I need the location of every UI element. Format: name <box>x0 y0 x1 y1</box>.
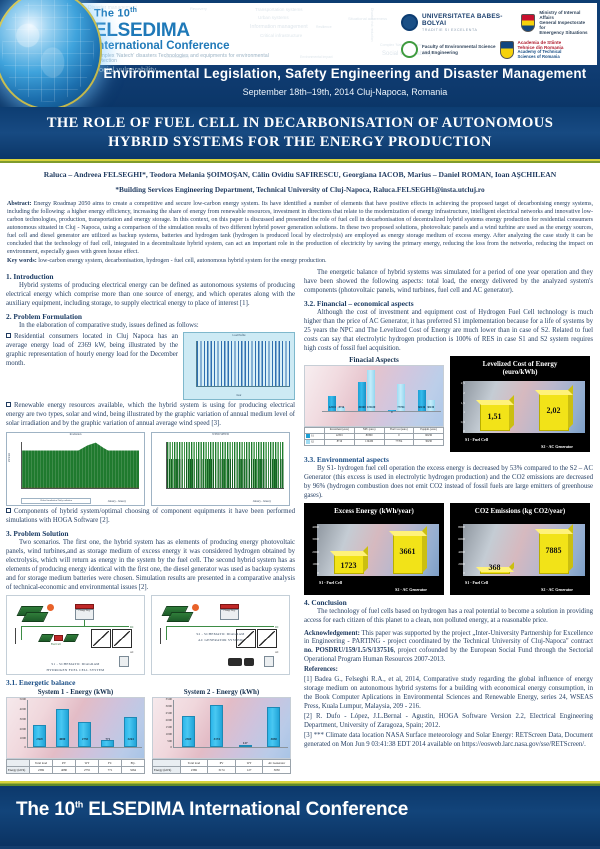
charge-regulator-box: Charge Reg. <box>220 609 239 620</box>
sponsor-logos: UNIVERSITATEA BABES-BOLYAI TRADITIE SI E… <box>401 9 591 65</box>
checkbox-icon <box>6 402 11 407</box>
logo-international: International Conference <box>94 41 274 53</box>
excess-title: Excess Energy (kWh/year) <box>305 507 443 516</box>
ubb-line1: UNIVERSITATEA BABES-BOLYAI <box>422 13 517 27</box>
chart-system1-energy: System 1 - Energy (kWh) 5000 4000 3000 2… <box>6 688 145 774</box>
heading-problem-formulation: 2. Problem Formulation <box>6 312 295 321</box>
bar-pv: 3174 <box>210 705 223 748</box>
excess-bars: 1723 3661 <box>319 528 437 574</box>
system2-yaxis: 3500 3000 2500 2000 1500 1000 500 0 <box>153 698 173 748</box>
bullet-components-hoga: Components of hybrid system/optimal choo… <box>6 508 295 526</box>
resource-figures: Irradiation kWh/m2 January - January Glo… <box>6 432 295 506</box>
globe-ring <box>0 0 102 107</box>
cat-cell: Total load <box>30 760 53 767</box>
chart-co2-emissions: CO2 Emissions (kg CO2/year) 8000 6000 40… <box>450 503 590 595</box>
conference-theme: Environmental Legislation, Safety Engine… <box>95 66 595 81</box>
bullet-renewable-resources: Renewable energy resources available, wh… <box>6 402 295 429</box>
load-chart-plot <box>196 341 290 387</box>
mai-line2: General Inspectorate for <box>539 20 591 30</box>
right-column: The energetic balance of hybrid systems … <box>304 269 593 775</box>
bar-value: 127 <box>243 741 248 745</box>
logo-fese: Faculty of Environmental Science and Eng… <box>401 36 591 63</box>
bar-value: 1,51 <box>488 412 502 421</box>
ac-outlet-icon <box>264 656 274 667</box>
financial-data-table: Investment (euro) NPC (euro) Fuel Cost (… <box>304 427 444 446</box>
bar-s2-npc: 119430 <box>367 370 375 411</box>
conference-date: September 18th–19th, 2014 Cluj-Napoca, R… <box>95 87 595 97</box>
checkbox-icon <box>6 333 11 338</box>
references-label: References: <box>304 666 338 673</box>
financial-bars: 42501 8716 80300 119430 0 77704 60236 <box>322 369 441 412</box>
bullet-1-text: Residential consumers located in Cluj Na… <box>6 333 178 367</box>
fese-line2: and Engineering <box>422 50 496 55</box>
h2-tank-icon <box>54 635 63 641</box>
system1-yaxis: 5000 4000 3000 2000 1000 0 <box>7 698 27 748</box>
ytick: 1500 <box>166 725 172 729</box>
astr-shield-icon <box>500 41 514 59</box>
ytick: 2000 <box>458 562 465 566</box>
ytick: 0 <box>170 745 172 749</box>
solar-chart-legend: Global irradiation Daily radiation <box>21 498 91 504</box>
ac-label: AC <box>130 651 134 654</box>
financial-plot: 42501 8716 80300 119430 0 77704 60236 <box>304 365 444 427</box>
bar-s2-investment: 8716 <box>337 407 345 410</box>
val-cell: 4080 <box>53 767 76 774</box>
text-environmental: By S1- hydrogen fuel cell operation the … <box>304 465 593 501</box>
bar-value: 1723 <box>341 561 357 570</box>
footer-conference-name: The 10th ELSEDIMA International Conferen… <box>16 799 408 821</box>
logo-the: The 10th <box>94 7 274 20</box>
text-introduction: Hybrid systems of producing electrical e… <box>6 282 295 309</box>
heading-introduction: 1. Introduction <box>6 272 295 281</box>
lcoe-cat-s2: S2 - AC Generator <box>541 444 573 449</box>
text-problem-formulation: In the elaboration of comparative study,… <box>6 322 295 331</box>
bar-value: 30230 <box>427 406 434 409</box>
bar-s1-excess: 1723 <box>334 555 364 574</box>
ytick: 3000 <box>20 717 26 721</box>
system2-chart-title: System 2 - Energy (kWh) <box>152 688 291 696</box>
cat-cell: WT <box>76 760 99 767</box>
ack-grant: no. POSDRU/159/1.5/S/137516 <box>304 647 394 654</box>
text-financial: Although the cost of investment and equi… <box>304 309 593 354</box>
heading-environmental: 3.3. Environmental aspects <box>304 455 593 464</box>
group-equipment: 60236 30230 <box>418 369 435 411</box>
bar-value: 119430 <box>367 406 375 409</box>
wind-chart-plot <box>166 442 284 489</box>
table-corner <box>7 760 30 767</box>
kw-6: Resilience <box>316 25 332 29</box>
bar-pv: 4080 <box>56 709 69 747</box>
lcoe-bars: 1,51 2,02 <box>465 383 583 431</box>
chart-solar-irradiation: Irradiation kWh/m2 January - January Glo… <box>6 432 145 506</box>
bar-value: 771 <box>105 737 110 741</box>
schematic-s1-fuel-cell: Charge Reg. Fuel Cell DC AC S1 - SCHEMAT… <box>6 595 145 675</box>
wind-chart-title: WIND SPEED <box>152 433 289 436</box>
group-investment: 42501 8716 <box>328 369 345 411</box>
cat-cell: PV <box>208 760 236 767</box>
ytick: 4000 <box>312 525 319 529</box>
bar-value: 2755 <box>82 737 88 741</box>
cat-cell: FC <box>99 760 122 767</box>
acknowledgement: Acknowledgement: This paper was supporte… <box>304 630 593 666</box>
lcoe-yaxis: 2,5 2 1,5 1 0,5 0 <box>453 381 465 433</box>
bar-s1-npc: 80300 <box>358 382 366 411</box>
schematic-diagrams: Charge Reg. Fuel Cell DC AC S1 - SCHEMAT… <box>6 595 295 675</box>
bar-value: 42501 <box>329 406 336 409</box>
globe-leaf-icon <box>401 41 418 58</box>
ytick: 6000 <box>458 537 465 541</box>
bar-value: 4080 <box>59 737 65 741</box>
inverter-icon <box>91 629 111 648</box>
ytick: 2000 <box>312 550 319 554</box>
abstract: Abstract: Energy Roadmap 2050 aims to cr… <box>0 196 600 258</box>
bar-s2-excess: 3661 <box>393 535 423 574</box>
val-cell: 119430 <box>354 439 384 445</box>
bar-ely: 3264 <box>124 717 137 748</box>
schematic-s2-caption-2: AC GENERATOR SYSTEM <box>152 638 289 642</box>
solar-chart-plot <box>21 442 139 489</box>
val-cell: 8716 <box>325 439 355 445</box>
ytick: 2000 <box>166 718 172 722</box>
table-row-categories: Total load PV WT FC Ely. <box>7 760 145 767</box>
mai-line1: Ministry of Internal Affairs <box>539 10 591 20</box>
charge-regulator-label: Charge Reg. <box>224 609 236 612</box>
charge-regulator-box: Charge Reg. <box>75 609 94 620</box>
table-corner <box>153 760 181 767</box>
lcoe-title: Levelized Cost of Energy (euro/kWh) <box>451 360 589 378</box>
bar-value: 3174 <box>214 737 220 741</box>
dc-label: DC <box>275 626 279 629</box>
val-cell: 2369 <box>30 767 53 774</box>
paper-title-line1: THE ROLE OF FUEL CELL IN DECARBONISATION… <box>28 114 572 133</box>
kw-8: Disaster risk reduction <box>370 8 374 42</box>
wire <box>84 620 85 626</box>
cat-cell: AC Generator <box>263 760 291 767</box>
system1-bars: 2369 4080 2755 771 3264 <box>27 700 142 748</box>
wind-turbine-icon <box>15 628 26 644</box>
regulator-top <box>75 604 94 609</box>
bar-s1-investment: 42501 <box>328 396 336 411</box>
legend-label-s2: S2 <box>311 441 314 444</box>
cat-cell: WT <box>235 760 263 767</box>
logo-ordinal: th <box>130 7 137 14</box>
financial-chart-title: Finacial Aspects <box>304 356 444 364</box>
solar-green-area <box>22 442 139 488</box>
val-cell: 2369 <box>180 767 208 774</box>
heading-financial: 3.2. Financial – economical aspects <box>304 299 593 308</box>
cat-cell: Ely. <box>122 760 145 767</box>
bar-value: 2369 <box>185 737 191 741</box>
ytick: 4000 <box>20 707 26 711</box>
paper-title-line2: HYBRID SYSTEMS FOR THE ENERGY PRODUCTION <box>28 133 572 152</box>
val-cell: 771 <box>99 767 122 774</box>
bar-value: 77704 <box>397 406 404 409</box>
heading-conclusion: 4. Conclusion <box>304 598 593 607</box>
battery-icon <box>244 658 254 666</box>
bar-value: 60236 <box>418 406 425 409</box>
heading-problem-solution: 3. Problem Solution <box>6 529 295 538</box>
co2-yaxis: 8000 6000 4000 2000 0 <box>453 524 465 576</box>
excess-cat-s1: S1 - Fuel Cell <box>319 580 342 585</box>
table-row-values: Energy (kWh) 2369 4080 2755 771 3264 <box>7 767 145 774</box>
system1-data-table: Total load PV WT FC Ely. Energy (kWh) 23… <box>6 759 145 774</box>
kw-11: Environmental impact <box>300 55 333 59</box>
excess-yaxis: 4000 3000 2000 1000 0 <box>307 524 319 576</box>
ytick: 2500 <box>166 711 172 715</box>
environmental-charts: Excess Energy (kWh/year) 4000 3000 2000 … <box>304 503 593 595</box>
abstract-label: Abstract: <box>7 201 32 207</box>
footer-gold-rule <box>0 781 600 786</box>
ack-label: Acknowledgement: <box>304 630 360 637</box>
authors-block: Raluca – Andreea FELSEGHI*, Teodora Mela… <box>0 163 600 195</box>
ytick: 4000 <box>458 550 465 554</box>
bar-ac-generator: 3030 <box>267 707 280 748</box>
ytick: 1000 <box>20 736 26 740</box>
chart-excess-energy: Excess Energy (kWh/year) 4000 3000 2000 … <box>304 503 444 595</box>
co2-cat-s2: S2 - AC Generator <box>541 587 573 592</box>
schematic-s2-caption-1: S2 - SCHEMATIC DIAGRAM <box>152 632 289 636</box>
affiliation: *Building Services Engineering Departmen… <box>8 185 592 194</box>
val-cell: 30230 <box>414 439 444 445</box>
solar-chart-title: Irradiation <box>7 433 144 436</box>
bar-s2-equipment: 30230 <box>427 400 435 411</box>
dc-label: DC <box>130 626 134 629</box>
group-fuel-cost: 0 77704 <box>388 369 405 411</box>
co2-bars: 368 7885 <box>465 528 583 574</box>
val-cell: 3264 <box>122 767 145 774</box>
bullet-2-text: Renewable energy resources available, wh… <box>6 402 295 427</box>
keywords-label: Key words: <box>7 258 37 264</box>
fese-line1: Faculty of Environmental Science <box>422 44 496 49</box>
bar-value: 2369 <box>36 737 42 741</box>
bar-wt: 2755 <box>78 722 91 748</box>
electrolyzer-icon <box>38 634 54 642</box>
ubb-seal-icon <box>401 14 418 31</box>
solar-chart-ylabel: kWh/m2 <box>8 452 11 461</box>
bar-s1-co2: 368 <box>480 571 510 574</box>
romania-shield-icon <box>521 14 535 32</box>
schematic-s1-caption-1: S1 - SCHEMATIC DIAGRAM <box>7 662 144 666</box>
ytick: 3000 <box>166 704 172 708</box>
cat-cell: Total load <box>180 760 208 767</box>
bar-s2-fuel-cost: 77704 <box>397 384 405 410</box>
system2-plot: 3500 3000 2500 2000 1500 1000 500 0 2369… <box>152 697 291 759</box>
cat-cell: PV <box>53 760 76 767</box>
lcoe-cat-s1: S1 - Fuel Cell <box>465 437 488 442</box>
legend-s2: S2 <box>305 439 325 445</box>
ytick: 1000 <box>166 732 172 736</box>
chart-levelized-cost: Levelized Cost of Energy (euro/kWh) 2,5 … <box>450 356 590 452</box>
lcoe-title-main: Levelized Cost of Energy <box>483 360 558 368</box>
excess-cat-s2: S2 - AC Generator <box>395 587 427 592</box>
val-cell: 3030 <box>263 767 291 774</box>
checkbox-icon <box>6 508 11 513</box>
chart-financial-aspects: Finacial Aspects 42501 8716 80300 119430… <box>304 356 444 446</box>
val-cell: 2755 <box>76 767 99 774</box>
mai-line3: Emergency Situations <box>539 30 591 35</box>
text-energetic-balance: The energetic balance of hybrid systems … <box>304 269 593 296</box>
bus-wire <box>166 626 274 627</box>
schematic-s2-ac-generator: Charge Reg. DC AC S2 - SCHEMATIC DIAGRAM… <box>151 595 290 675</box>
reference-2: [2] R. Dufo - López, J.L.Bernal - Agusti… <box>304 713 593 731</box>
inverter-icon <box>112 629 132 648</box>
bar-value: 8716 <box>339 406 345 409</box>
text-conclusion: The technology of fuel cells based on hy… <box>304 608 593 626</box>
reference-1: [1] Badea G., Felseghi R.A., et al, 2014… <box>304 676 593 712</box>
bar-value: 80300 <box>359 406 366 409</box>
heading-energetic-balance: 3.1. Energetic balance <box>6 678 295 687</box>
bar-s2-co2: 7885 <box>539 533 569 573</box>
footer-text-b: ELSEDIMA International Conference <box>83 799 408 820</box>
author-list: Raluca – Andreea FELSEGHI*, Teodora Mela… <box>8 169 592 180</box>
fuel-cell-icon <box>63 634 79 642</box>
ytick: 8000 <box>458 525 465 529</box>
chart-load-profile: Load Profile hour <box>183 332 295 400</box>
ytick: 500 <box>167 739 172 743</box>
logo-subtitle: Complex 'Natech' disasters Technologies … <box>94 54 274 64</box>
footer-ordinal: th <box>75 800 83 810</box>
keywords-line: Key words: low-carbon energy system, dec… <box>0 258 600 267</box>
keywords-text: low-carbon energy system, decarbonisatio… <box>37 258 327 264</box>
text-problem-solution: Two scenarios. The first one, the hybrid… <box>6 539 295 593</box>
financial-charts: Finacial Aspects 42501 8716 80300 119430… <box>304 356 593 452</box>
val-cell: 77704 <box>384 439 414 445</box>
elsedima-logo: The 10th ELSEDIMA International Conferen… <box>94 7 274 74</box>
system2-data-table: Total load PV WT AC Generator Energy (kW… <box>152 759 291 774</box>
ubb-line2: TRADITIE SI EXCELENTA <box>422 28 517 32</box>
val-cell: 127 <box>235 767 263 774</box>
ac-label: AC <box>275 651 279 654</box>
table-row-values: Energy (kWh) 2369 3174 127 3030 <box>153 767 291 774</box>
group-npc: 80300 119430 <box>358 369 375 411</box>
reference-3: [3] *** Climate data location NASA Surfa… <box>304 732 593 750</box>
sun-icon <box>192 604 199 611</box>
bus-wire <box>21 626 129 627</box>
ytick: 2000 <box>20 727 26 731</box>
bar-value: 3264 <box>127 737 133 741</box>
row-label: Energy (kWh) <box>7 767 30 774</box>
battery-icon <box>228 658 242 666</box>
sun-icon <box>47 604 54 611</box>
ytick: 3500 <box>166 697 172 701</box>
logo-ubb: UNIVERSITATEA BABES-BOLYAI TRADITIE SI E… <box>401 9 591 36</box>
wind-chart-xlabel: January - January <box>253 500 271 503</box>
ytick: 3000 <box>312 537 319 541</box>
ytick: 1000 <box>312 562 319 566</box>
left-column: 1. Introduction Hybrid systems of produc… <box>6 269 295 775</box>
regulator-top <box>220 604 239 609</box>
pv-panel-icon <box>22 612 49 622</box>
legend-label-s1: S1 <box>311 435 314 438</box>
table-row-s2: S2 8716 119430 77704 30230 <box>305 439 444 445</box>
legend-swatch-s2 <box>306 440 310 444</box>
schematic-s1-caption-2: HYDROGEN FUEL CELL SYSTEM <box>7 668 144 672</box>
energy-balance-charts: System 1 - Energy (kWh) 5000 4000 3000 2… <box>6 688 295 774</box>
bar-fc: 771 <box>101 740 114 747</box>
kw-7: Situational awareness <box>348 16 387 21</box>
legend-swatch-s1 <box>306 434 310 438</box>
ytick: 0 <box>24 745 26 749</box>
logo-elsedima: ELSEDIMA <box>94 21 274 40</box>
bar-value: 0 <box>391 411 392 414</box>
bar-value: 7885 <box>546 546 562 555</box>
bar-value: 368 <box>489 563 501 572</box>
astr-line4: Sciences of Romania <box>518 55 564 60</box>
solar-chart-xlabel: January - January <box>108 500 126 503</box>
bar-value: 3661 <box>400 547 416 556</box>
references-label-wrap: References: <box>304 666 593 675</box>
abstract-text: Energy Roadmap 2050 aims to create a com… <box>7 201 593 255</box>
system1-chart-title: System 1 - Energy (kWh) <box>6 688 145 696</box>
bar-total-load: 2369 <box>33 725 46 747</box>
bar-value: 3030 <box>271 737 277 741</box>
chart-system2-energy: System 2 - Energy (kWh) 3500 3000 2500 2… <box>152 688 291 774</box>
table-row-categories: Total load PV WT AC Generator <box>153 760 291 767</box>
chart-wind-speed: WIND SPEED January - January <box>151 432 290 506</box>
charge-regulator-label: Charge Reg. <box>79 609 91 612</box>
load-chart-title: Load Profile <box>184 334 294 337</box>
lcoe-subtitle: (euro/kWh) <box>503 368 538 376</box>
poster-columns: 1. Introduction Hybrid systems of produc… <box>0 267 600 775</box>
bar-total-load: 2369 <box>182 716 195 748</box>
co2-cat-s1: S1 - Fuel Cell <box>465 580 488 585</box>
ytick: 5000 <box>20 697 26 701</box>
val-cell: 3174 <box>208 767 236 774</box>
fuel-cell-label: Fuel Cell <box>51 643 61 646</box>
bullet-3-text: Components of hybrid system/optimal choo… <box>6 508 295 524</box>
bar-s1-equipment: 60236 <box>418 390 426 411</box>
bar-s1-lcoe: 1,51 <box>480 404 510 431</box>
paper-title-block: THE ROLE OF FUEL CELL IN DECARBONISATION… <box>0 107 600 159</box>
bar-wt: 127 <box>239 745 252 747</box>
conference-banner: Disaster management Recovery Transportat… <box>0 0 600 107</box>
footer-text-a: The 10 <box>16 799 75 820</box>
co2-title: CO2 Emissions (kg CO2/year) <box>451 507 589 516</box>
system2-bars: 2369 3174 127 3030 <box>173 700 288 748</box>
load-chart-xlabel: hour <box>184 394 294 397</box>
poster-footer: The 10th ELSEDIMA International Conferen… <box>0 781 600 849</box>
bar-value: 2,02 <box>547 406 561 415</box>
row-label: Energy (kWh) <box>153 767 181 774</box>
bar-s2-lcoe: 2,02 <box>539 394 569 430</box>
pv-panel-icon <box>167 612 194 622</box>
banner-white-strip: Disaster management Recovery Transportat… <box>70 3 597 65</box>
system1-plot: 5000 4000 3000 2000 1000 0 2369 4080 275… <box>6 697 145 759</box>
